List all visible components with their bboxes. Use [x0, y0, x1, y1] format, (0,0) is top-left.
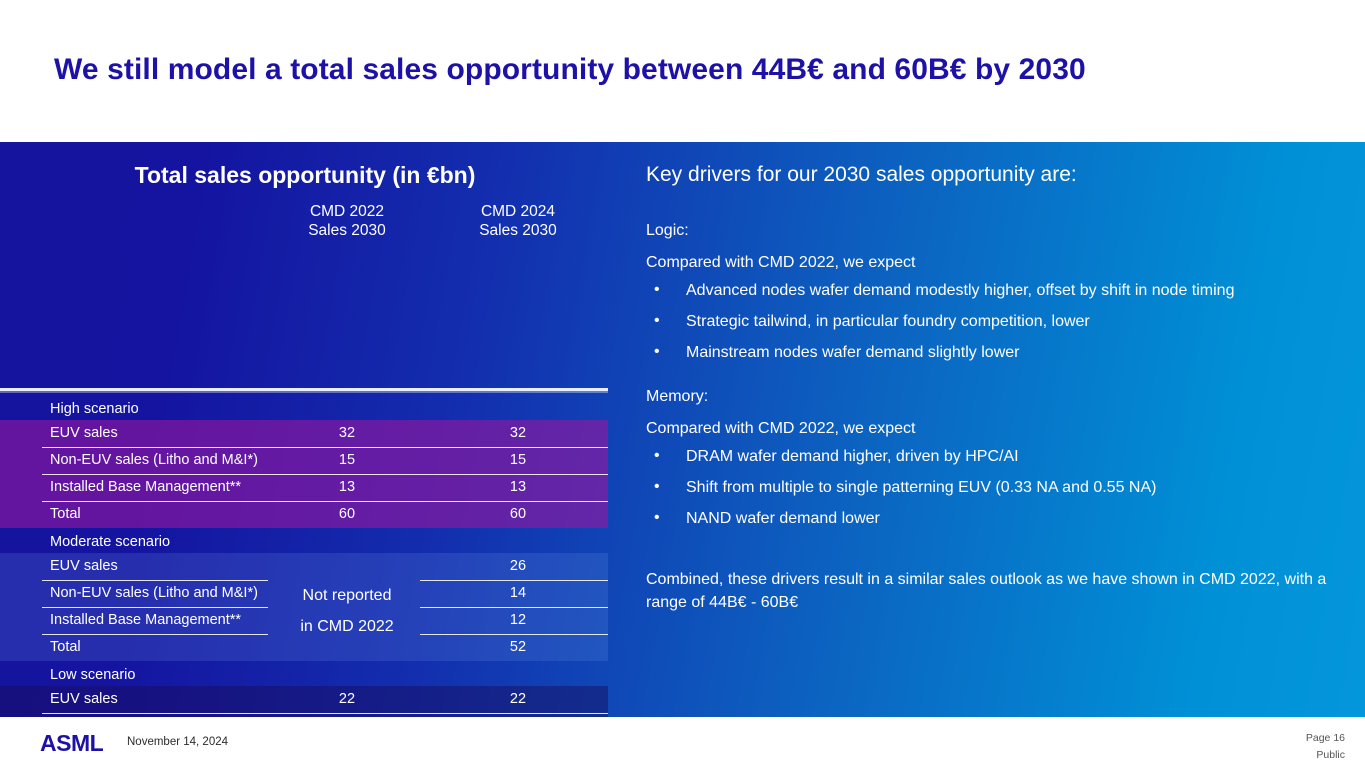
bullet-icon: • — [654, 478, 660, 496]
row-label: Installed Base Management** — [50, 479, 241, 495]
bullet-icon: • — [654, 281, 660, 299]
row-value-cmd2022: 13 — [277, 479, 417, 495]
table-title: Total sales opportunity (in €bn) — [0, 162, 610, 189]
row-label: EUV sales — [50, 558, 118, 574]
list-item-text: Advanced nodes wafer demand modestly hig… — [686, 282, 1234, 299]
asml-logo: ASML — [40, 730, 103, 757]
table-row: Total 60 60 — [0, 501, 608, 528]
row-value-cmd2022: 60 — [277, 506, 417, 522]
list-item: • NAND wafer demand lower — [646, 510, 1346, 528]
page-title: We still model a total sales opportunity… — [54, 50, 1324, 90]
bullet-icon: • — [654, 343, 660, 361]
scenario-label-moderate: Moderate scenario — [50, 534, 170, 550]
not-reported-line2: in CMD 2022 — [277, 611, 417, 642]
row-value-cmd2024: 14 — [448, 585, 588, 601]
row-label: Non-EUV sales (Litho and M&I*) — [50, 585, 258, 601]
row-value-cmd2022: 22 — [277, 691, 417, 707]
classification-label: Public — [1316, 749, 1345, 761]
row-label: Non-EUV sales (Litho and M&I*) — [50, 452, 258, 468]
list-item-text: NAND wafer demand lower — [686, 510, 880, 527]
memory-subheading: Compared with CMD 2022, we expect — [646, 420, 1346, 438]
row-value-cmd2024: 32 — [448, 425, 588, 441]
table-row: EUV sales 32 32 — [0, 420, 608, 447]
table-top-rule — [0, 388, 608, 391]
sales-opportunity-table: Total sales opportunity (in €bn) CMD 202… — [0, 142, 610, 717]
row-value-cmd2024: 22 — [448, 691, 588, 707]
list-item: • DRAM wafer demand higher, driven by HP… — [646, 448, 1346, 466]
list-item-text: DRAM wafer demand higher, driven by HPC/… — [686, 448, 1019, 465]
row-value-cmd2024: 52 — [448, 639, 588, 655]
list-item: • Mainstream nodes wafer demand slightly… — [646, 344, 1346, 362]
column-header-cmd2024-line2: Sales 2030 — [448, 221, 588, 240]
list-item: • Strategic tailwind, in particular foun… — [646, 313, 1346, 331]
content-panel: Total sales opportunity (in €bn) CMD 202… — [0, 142, 1365, 717]
table-column-headers: CMD 2022 Sales 2030 CMD 2024 Sales 2030 — [0, 202, 610, 254]
column-header-cmd2022-line2: Sales 2030 — [277, 221, 417, 240]
list-item: • Advanced nodes wafer demand modestly h… — [646, 282, 1346, 300]
table-row: Installed Base Management** 13 13 — [0, 474, 608, 501]
not-reported-cell: Not reported in CMD 2022 — [277, 580, 417, 642]
logic-heading: Logic: — [646, 222, 1346, 240]
bullet-icon: • — [654, 447, 660, 465]
logic-bullet-list: • Advanced nodes wafer demand modestly h… — [646, 282, 1346, 362]
memory-bullet-list: • DRAM wafer demand higher, driven by HP… — [646, 448, 1346, 528]
column-header-cmd2024: CMD 2024 Sales 2030 — [448, 202, 588, 240]
row-label: Total — [50, 506, 81, 522]
column-header-cmd2022: CMD 2022 Sales 2030 — [277, 202, 417, 240]
row-value-cmd2024: 15 — [448, 452, 588, 468]
row-value-cmd2024: 13 — [448, 479, 588, 495]
row-label: Total — [50, 639, 81, 655]
list-item-text: Shift from multiple to single patterning… — [686, 479, 1156, 496]
slide: We still model a total sales opportunity… — [0, 0, 1365, 768]
memory-heading: Memory: — [646, 388, 1346, 406]
key-drivers-section: Key drivers for our 2030 sales opportuni… — [646, 142, 1356, 717]
scenario-label-high: High scenario — [50, 401, 139, 417]
row-label: EUV sales — [50, 425, 118, 441]
key-drivers-body: Logic: Compared with CMD 2022, we expect… — [646, 222, 1346, 614]
page-number: Page 16 — [1306, 732, 1345, 744]
list-item-text: Mainstream nodes wafer demand slightly l… — [686, 344, 1019, 361]
row-value-cmd2024: 12 — [448, 612, 588, 628]
conclusion-text: Combined, these drivers result in a simi… — [646, 568, 1346, 614]
row-value-cmd2022: 32 — [277, 425, 417, 441]
table-row: EUV sales 22 22 — [0, 686, 608, 713]
list-item: • Shift from multiple to single patterni… — [646, 479, 1346, 497]
row-value-cmd2024: 60 — [448, 506, 588, 522]
key-drivers-title: Key drivers for our 2030 sales opportuni… — [646, 163, 1077, 187]
table-row: EUV sales 26 — [0, 553, 608, 580]
row-value-cmd2022: 15 — [277, 452, 417, 468]
scenario-label-low: Low scenario — [50, 667, 135, 683]
bullet-icon: • — [654, 312, 660, 330]
bullet-icon: • — [654, 509, 660, 527]
footer-date: November 14, 2024 — [127, 736, 228, 748]
column-header-cmd2022-line1: CMD 2022 — [277, 202, 417, 221]
row-value-cmd2024: 26 — [448, 558, 588, 574]
table-row: Non-EUV sales (Litho and M&I*) 15 15 — [0, 447, 608, 474]
row-label: EUV sales — [50, 691, 118, 707]
logic-subheading: Compared with CMD 2022, we expect — [646, 254, 1346, 272]
spacer — [646, 554, 1346, 568]
not-reported-line1: Not reported — [277, 580, 417, 611]
row-label: Installed Base Management** — [50, 612, 241, 628]
list-item-text: Strategic tailwind, in particular foundr… — [686, 313, 1090, 330]
table-row: Non-EUV sales (Litho and M&I*) 11 11 — [0, 713, 608, 717]
column-header-cmd2024-line1: CMD 2024 — [448, 202, 588, 221]
